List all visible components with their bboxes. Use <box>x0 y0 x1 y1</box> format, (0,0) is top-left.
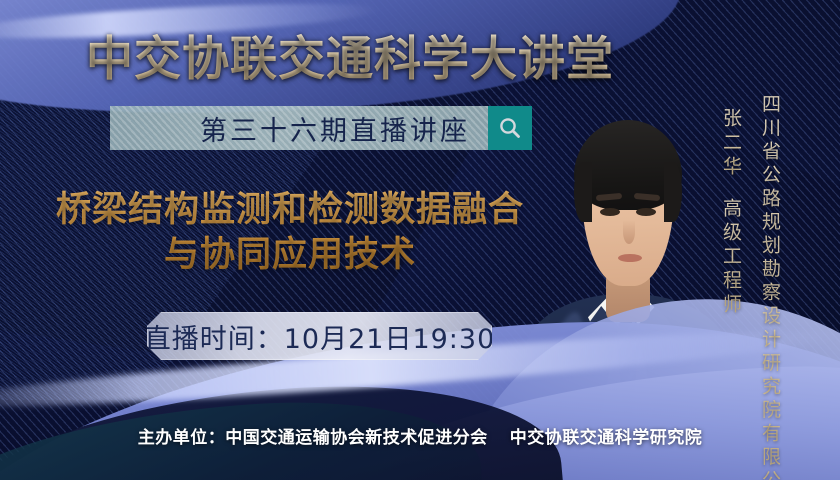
portrait-hair-left <box>574 162 592 222</box>
speaker-job-title: 高级工程师 <box>718 198 745 318</box>
portrait-mouth <box>618 254 642 262</box>
lecture-topic-line1: 桥梁结构监测和检测数据融合 <box>56 190 524 230</box>
organizer-prefix: 主办单位： <box>138 428 226 448</box>
organizer-name-1: 中国交通运输协会新技术促进分会 <box>225 428 488 448</box>
portrait-hair-right <box>664 162 682 222</box>
portrait-nose <box>623 220 635 244</box>
speaker-name: 张二华 <box>718 108 745 180</box>
session-badge-label: 第三十六期直播讲座 <box>200 109 470 148</box>
page-title: 中交协联交通科学大讲堂 <box>0 20 700 89</box>
portrait-eye-left <box>600 208 620 216</box>
search-icon <box>497 115 523 141</box>
live-time-banner: 直播时间：10月21日19:30 <box>147 312 492 360</box>
portrait-eye-right <box>636 208 656 216</box>
webinar-poster: 中交协联交通科学大讲堂 中交协联交通科学大讲堂 第三十六期直播讲座 桥梁结构监测… <box>0 0 840 480</box>
organizer-footer: 主办单位：中国交通运输协会新技术促进分会中交协联交通科学研究院 <box>0 423 840 448</box>
search-icon-box[interactable] <box>488 106 532 150</box>
live-time-text: 直播时间：10月21日19:30 <box>144 317 496 356</box>
organizer-name-2: 中交协联交通科学研究院 <box>510 428 703 448</box>
session-badge: 第三十六期直播讲座 <box>110 106 532 150</box>
lecture-topic: 桥梁结构监测和检测数据融合 与协同应用技术 <box>20 188 560 278</box>
lecture-topic-line2: 与协同应用技术 <box>20 233 560 278</box>
